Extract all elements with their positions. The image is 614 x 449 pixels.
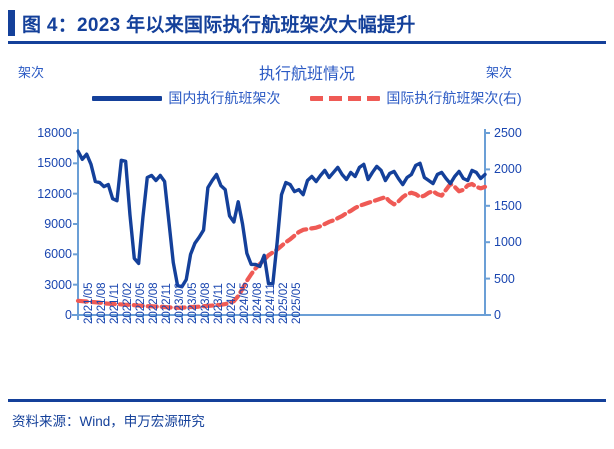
right-tick-label: 2500 [494,126,522,140]
left-tick-label: 9000 [16,217,72,231]
figure-card: 图 4：2023 年以来国际执行航班架次大幅提升 架次 架次 执行航班情况 国内… [0,0,614,444]
title-accent-bar [8,10,15,36]
footer-divider [8,399,606,402]
series-domestic-line [78,151,485,286]
x-tick-label: 2021/08 [96,282,108,324]
legend-item-domestic[interactable]: 国内执行航班架次 [92,88,280,108]
x-tick-label: 2022/11 [161,283,173,324]
right-tick-label: 2000 [494,162,522,176]
chart-title: 执行航班情况 [0,60,614,84]
x-tick-label: 2021/11 [109,283,121,324]
x-tick-label: 2025/02 [278,282,290,324]
x-tick-label: 2024/08 [252,282,264,324]
figure-title-bar: 图 4：2023 年以来国际执行航班架次大幅提升 [0,6,614,40]
x-tick-label: 2024/05 [239,282,251,324]
x-tick-label: 2024/11 [265,283,277,324]
left-tick-label: 3000 [16,278,72,292]
left-tick-label: 15000 [16,156,72,170]
series-international-line [78,184,485,308]
x-tick-label: 2022/02 [122,282,134,324]
left-tick-label: 12000 [16,187,72,201]
chart-legend: 国内执行航班架次 国际执行航班架次(右) [0,88,614,108]
legend-item-international[interactable]: 国际执行航班架次(右) [310,88,521,108]
right-tick-label: 1500 [494,199,522,213]
source-note: 资料来源：Wind，申万宏源研究 [12,410,205,430]
left-tick-label: 6000 [16,247,72,261]
right-tick-label: 500 [494,272,515,286]
left-tick-label: 18000 [16,126,72,140]
x-tick-label: 2025/05 [291,282,303,324]
legend-swatch-solid-icon [92,96,162,101]
x-tick-label: 2022/05 [135,282,147,324]
legend-label-international: 国际执行航班架次(右) [386,88,521,108]
left-tick-label: 0 [16,308,72,322]
x-tick-label: 2021/05 [83,282,95,324]
x-tick-label: 2022/08 [148,282,160,324]
x-tick-label: 2023/02 [174,282,186,324]
legend-label-domestic: 国内执行航班架次 [168,88,280,108]
title-divider [8,41,606,44]
right-tick-label: 0 [494,308,501,322]
x-tick-label: 2023/11 [213,283,225,324]
x-tick-label: 2024/02 [226,282,238,324]
x-tick-label: 2023/05 [187,282,199,324]
x-tick-label: 2023/08 [200,282,212,324]
figure-title: 图 4：2023 年以来国际执行航班架次大幅提升 [22,10,416,37]
legend-swatch-dashed-icon [310,96,380,101]
right-tick-label: 1000 [494,235,522,249]
